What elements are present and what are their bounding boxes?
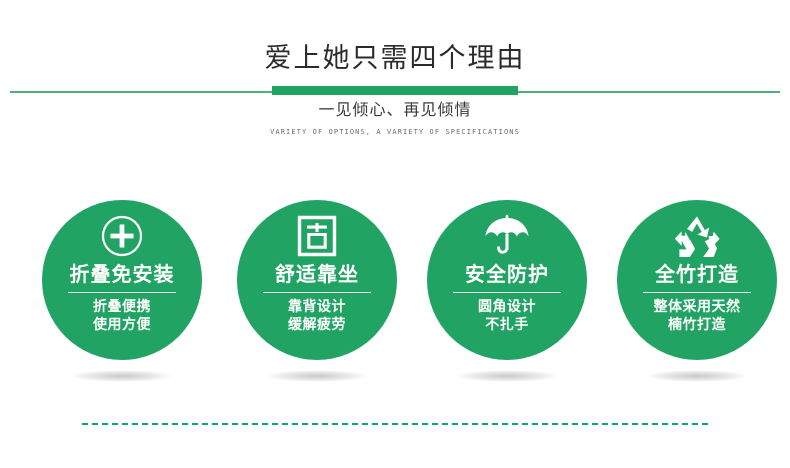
feature-subtitle-line-1: 靠背设计: [288, 298, 346, 316]
feature-circle[interactable]: 折叠免安装 折叠便携 使用方便: [42, 200, 202, 360]
feature-divider: [643, 292, 751, 293]
feature-subtitle-line-1: 折叠便携: [93, 298, 151, 316]
feature-divider: [68, 292, 176, 293]
bottom-dashed-divider: [82, 423, 708, 425]
feature-subtitle-line-2: 缓解疲劳: [288, 316, 346, 334]
feature-title: 折叠免安装: [70, 262, 175, 286]
circle-shadow: [72, 370, 172, 382]
feature-item-comfort[interactable]: 舒适靠坐 靠背设计 缓解疲劳: [237, 200, 397, 360]
feature-item-bamboo[interactable]: 全竹打造 整体采用天然 楠竹打造: [617, 200, 777, 360]
feature-title: 舒适靠坐: [275, 262, 359, 286]
circle-shadow: [267, 370, 367, 382]
feature-circle[interactable]: 舒适靠坐 靠背设计 缓解疲劳: [237, 200, 397, 360]
feature-list: 折叠免安装 折叠便携 使用方便: [0, 200, 790, 390]
page-subtitle-english: VARIETY OF OPTIONS, A VARIETY OF SPECIFI…: [0, 127, 790, 138]
feature-circle[interactable]: 全竹打造 整体采用天然 楠竹打造: [617, 200, 777, 360]
feature-subtitle-line-2: 不扎手: [485, 316, 529, 334]
feature-title: 安全防护: [465, 262, 549, 286]
feature-subtitle-line-2: 楠竹打造: [668, 316, 726, 334]
feature-item-safety[interactable]: 安全防护 圆角设计 不扎手: [427, 200, 587, 360]
feature-divider: [263, 292, 371, 293]
recycle-icon: [674, 213, 720, 259]
feature-subtitle-line-2: 使用方便: [93, 316, 151, 334]
page-subtitle: 一见倾心、再见倾情: [0, 98, 790, 122]
feature-title: 全竹打造: [655, 262, 739, 286]
feature-divider: [453, 292, 561, 293]
circle-shadow: [457, 370, 557, 382]
feature-banner: 爱上她只需四个理由 一见倾心、再见倾情 VARIETY OF OPTIONS, …: [0, 0, 790, 468]
plus-in-circle-icon: [99, 213, 145, 259]
divider-thick-bar: [272, 86, 518, 95]
page-title: 爱上她只需四个理由: [0, 42, 790, 76]
feature-subtitle-line-1: 圆角设计: [478, 298, 536, 316]
feature-circle[interactable]: 安全防护 圆角设计 不扎手: [427, 200, 587, 360]
feature-item-folding[interactable]: 折叠免安装 折叠便携 使用方便: [42, 200, 202, 360]
circle-shadow: [647, 370, 747, 382]
gu-character-box-icon: [294, 213, 340, 259]
umbrella-icon: [484, 213, 530, 259]
feature-subtitle-line-1: 整体采用天然: [654, 298, 741, 316]
banner-header: 爱上她只需四个理由 一见倾心、再见倾情 VARIETY OF OPTIONS, …: [0, 0, 790, 160]
title-divider: [0, 86, 790, 96]
